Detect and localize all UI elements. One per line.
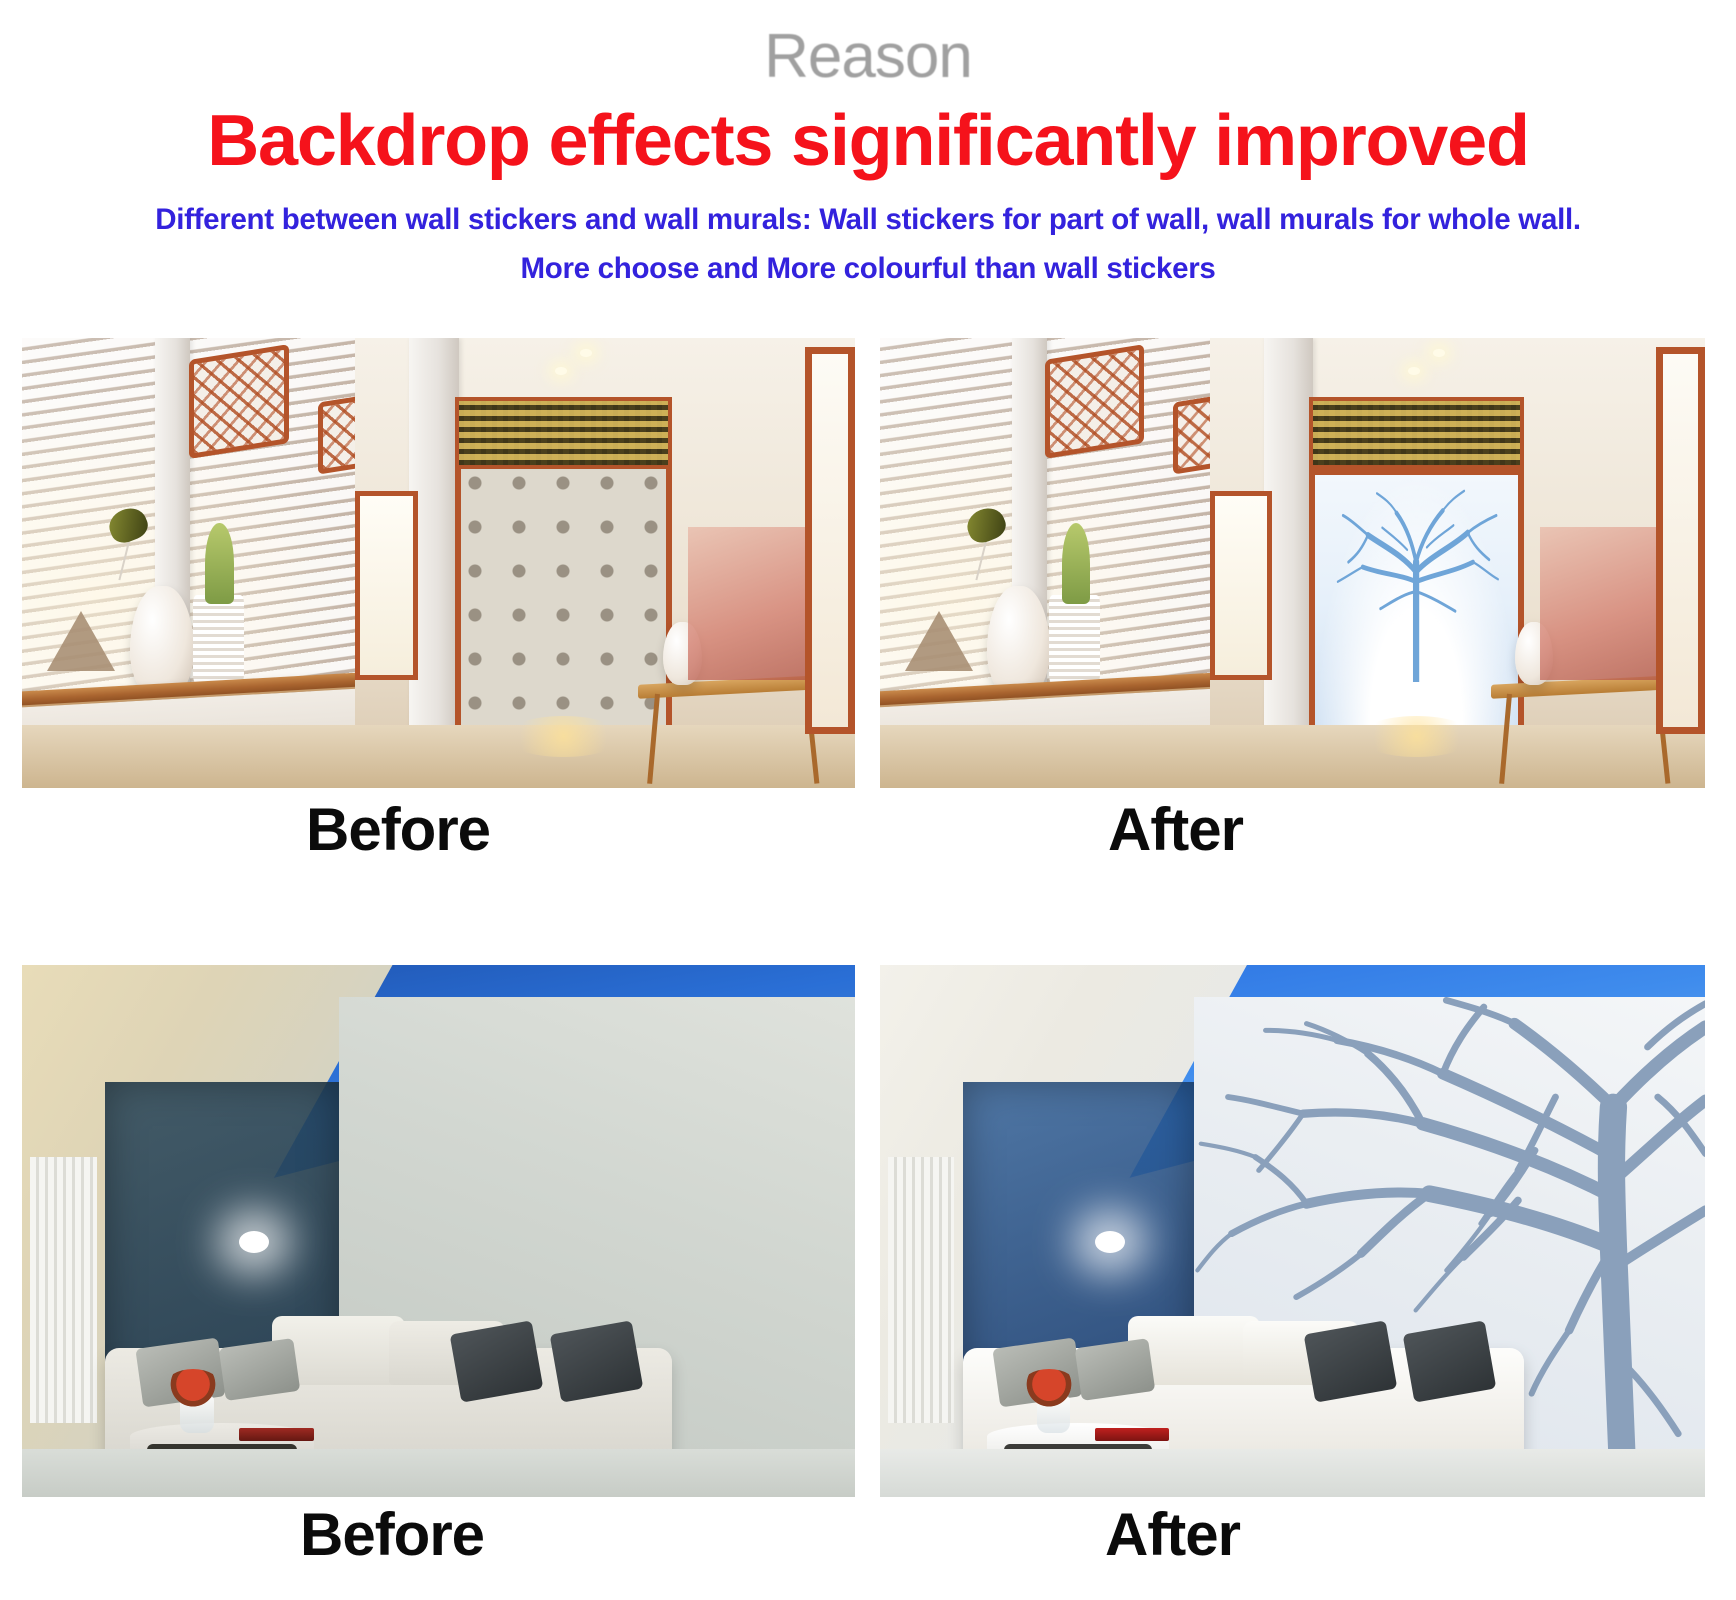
grey-pillow	[1075, 1338, 1156, 1401]
page-title: Backdrop effects significantly improved	[0, 104, 1736, 180]
hanging-artwork	[1540, 527, 1656, 680]
lattice-transom	[1309, 397, 1524, 469]
panel-before-hallway	[22, 338, 855, 788]
floor-light-glow	[1359, 716, 1475, 757]
dark-pillow	[1304, 1320, 1397, 1402]
potted-plant	[1062, 523, 1090, 604]
dark-pillow	[1403, 1320, 1496, 1402]
hanging-artwork	[688, 527, 805, 680]
product-infographic: Reason Backdrop effects significantly im…	[0, 0, 1736, 1600]
flower-bouquet	[164, 1369, 222, 1406]
ceiling-spotlight	[1095, 1231, 1125, 1253]
subtitle-line-1: Different between wall stickers and wall…	[0, 203, 1736, 237]
right-door-frame	[1656, 347, 1706, 734]
caption-before-top: Before	[306, 800, 490, 860]
dark-pillow	[550, 1320, 644, 1403]
window	[355, 491, 417, 680]
floor	[22, 725, 855, 788]
panel-before-lounge	[22, 965, 855, 1497]
book	[1095, 1428, 1169, 1441]
white-vase	[130, 586, 193, 699]
subtitle-line-2: More choose and More colourful than wall…	[0, 252, 1736, 286]
caption-after-top: After	[1108, 800, 1243, 860]
lattice-wall-decor	[189, 344, 289, 459]
striped-pot	[1049, 595, 1100, 690]
radiator	[30, 1157, 97, 1423]
right-door-frame	[805, 347, 855, 734]
grey-pillow	[219, 1338, 301, 1401]
ceiling-spotlight	[239, 1231, 269, 1253]
potted-plant	[205, 523, 233, 604]
book	[239, 1428, 314, 1441]
lattice-transom	[455, 397, 672, 469]
flower-bouquet	[1020, 1369, 1078, 1406]
panel-after-lounge	[880, 965, 1705, 1497]
dark-pillow	[450, 1320, 544, 1403]
cone-ornament	[905, 611, 973, 671]
floor	[22, 1449, 855, 1497]
kicker-title: Reason	[0, 26, 1736, 88]
floor	[880, 1449, 1705, 1497]
floor	[880, 725, 1705, 788]
lattice-wall-decor	[1045, 344, 1144, 459]
cone-ornament	[47, 611, 115, 671]
window	[1210, 491, 1272, 680]
white-vase	[987, 586, 1050, 699]
caption-before-bottom: Before	[300, 1505, 484, 1565]
floor-light-glow	[505, 716, 622, 757]
panel-after-hallway	[880, 338, 1705, 788]
striped-pot	[193, 595, 245, 690]
caption-after-bottom: After	[1105, 1505, 1240, 1565]
tree-mural-artwork	[1327, 486, 1505, 682]
radiator	[888, 1157, 954, 1423]
